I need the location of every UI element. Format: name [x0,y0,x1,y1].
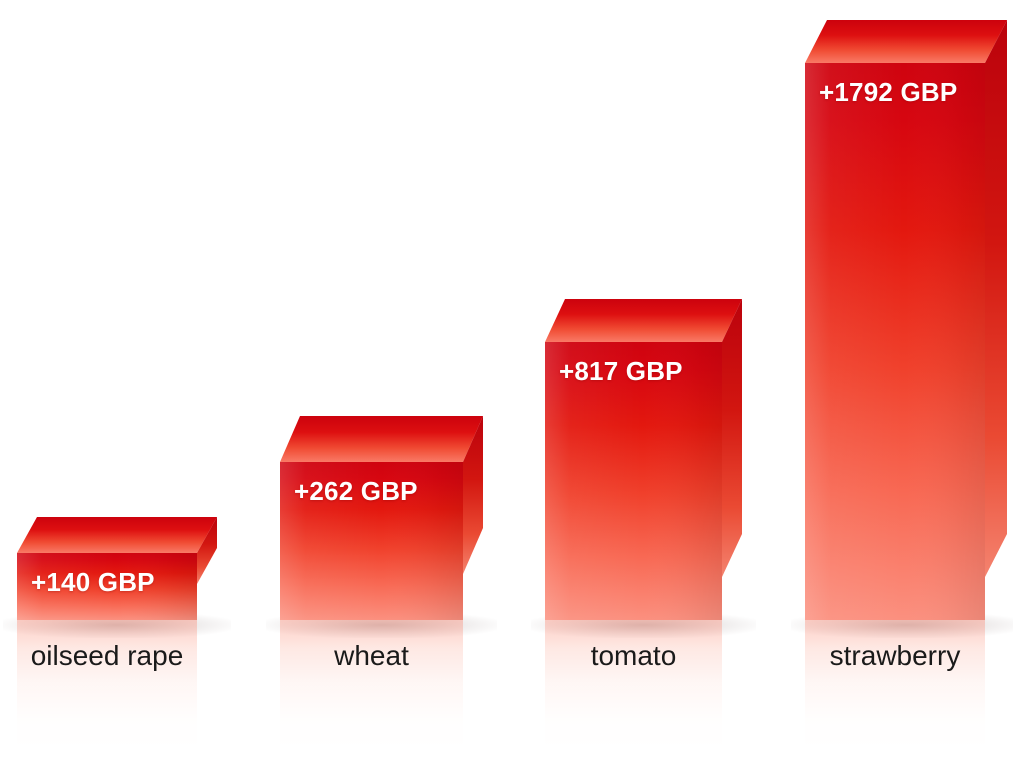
bar-solid [17,517,217,620]
bar-front-sheen [17,553,197,620]
bar-category-label: oilseed rape [17,640,197,672]
bar-top-face [17,517,217,553]
bar-front-sheen [805,63,985,620]
bar-tomato[interactable]: +817 GBPtomato [545,299,742,763]
chart-canvas: +140 GBPoilseed rape+262 GBPwheat+817 GB… [0,0,1013,763]
bar-front-sheen [280,462,463,620]
bar-category-label: wheat [280,640,463,672]
bar-solid [280,416,483,620]
bar-oilseed-rape[interactable]: +140 GBPoilseed rape [17,517,217,763]
bar-side-face [722,299,742,577]
bar-top-face [805,20,1007,63]
bar-strawberry[interactable]: +1792 GBPstrawberry [805,20,1007,763]
bar-top-face [545,299,742,342]
bar-side-face [985,20,1007,577]
bar-category-label: strawberry [805,640,985,672]
bar-top-face [280,416,483,462]
bar-wheat[interactable]: +262 GBPwheat [280,416,483,763]
bar-solid [805,20,1007,620]
bar-category-label: tomato [545,640,722,672]
bar-solid [545,299,742,620]
bar-front-sheen [545,342,722,620]
